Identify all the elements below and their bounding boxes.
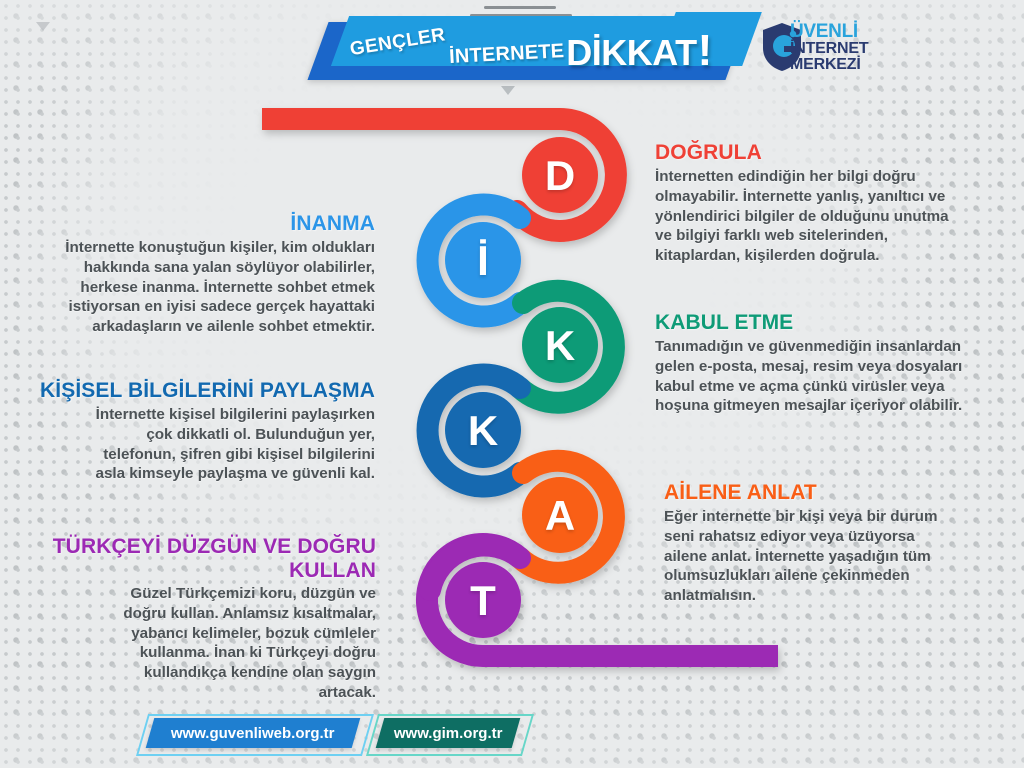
section-turkce-kullan-body: Güzel Türkçemizi koru, düzgün ve doğru k… (28, 584, 376, 703)
node-letter-ailene: A (545, 495, 575, 537)
node-letter-kabul: K (545, 325, 575, 367)
section-dogrula: DOĞRULA İnternetten edindiğin her bilgi … (655, 141, 965, 266)
section-ailene-anlat-heading: AİLENE ANLAT (664, 481, 954, 505)
infographic-canvas: GENÇLER İNTERNETE DİKKAT ! ÜVENLİ İNTERN… (0, 0, 1024, 768)
section-inanma: İNANMA İnternette konuştuğun kişiler, ki… (55, 212, 375, 337)
section-turkce-kullan-heading: TÜRKÇEYİ DÜZGÜN VE DOĞRU KULLAN (28, 535, 376, 582)
node-letter-dogrula: D (545, 155, 575, 197)
section-kisisel-bilgi-heading: KİŞİSEL BİLGİLERİNİ PAYLAŞMA (30, 379, 375, 403)
section-kabul-etme-body: Tanımadığın ve güvenmediğin insanlardan … (655, 337, 967, 416)
section-dogrula-body: İnternetten edindiğin her bilgi doğru ol… (655, 167, 965, 266)
section-inanma-heading: İNANMA (55, 212, 375, 236)
badge-guvenliweb[interactable]: www.guvenliweb.org.tr (146, 718, 361, 748)
section-kabul-etme-heading: KABUL ETME (655, 311, 967, 335)
node-letter-turkce: T (470, 580, 496, 622)
badge-guvenliweb-label: www.guvenliweb.org.tr (171, 725, 335, 742)
section-inanma-body: İnternette konuştuğun kişiler, kim olduk… (55, 238, 375, 337)
node-letter-inanma: İ (477, 240, 489, 282)
section-kisisel-bilgi-body: İnternette kişisel bilgilerini paylaşırk… (30, 405, 375, 484)
badge-gim[interactable]: www.gim.org.tr (376, 718, 521, 748)
section-ailene-anlat-body: Eğer internette bir kişi veya bir durum … (664, 507, 954, 606)
node-letter-kisisel: K (468, 410, 498, 452)
section-turkce-kullan: TÜRKÇEYİ DÜZGÜN VE DOĞRU KULLAN Güzel Tü… (28, 535, 376, 703)
badge-gim-label: www.gim.org.tr (394, 725, 503, 742)
section-dogrula-heading: DOĞRULA (655, 141, 965, 165)
section-kisisel-bilgi: KİŞİSEL BİLGİLERİNİ PAYLAŞMA İnternette … (30, 379, 375, 484)
section-kabul-etme: KABUL ETME Tanımadığın ve güvenmediğin i… (655, 311, 967, 416)
section-ailene-anlat: AİLENE ANLAT Eğer internette bir kişi ve… (664, 481, 954, 606)
